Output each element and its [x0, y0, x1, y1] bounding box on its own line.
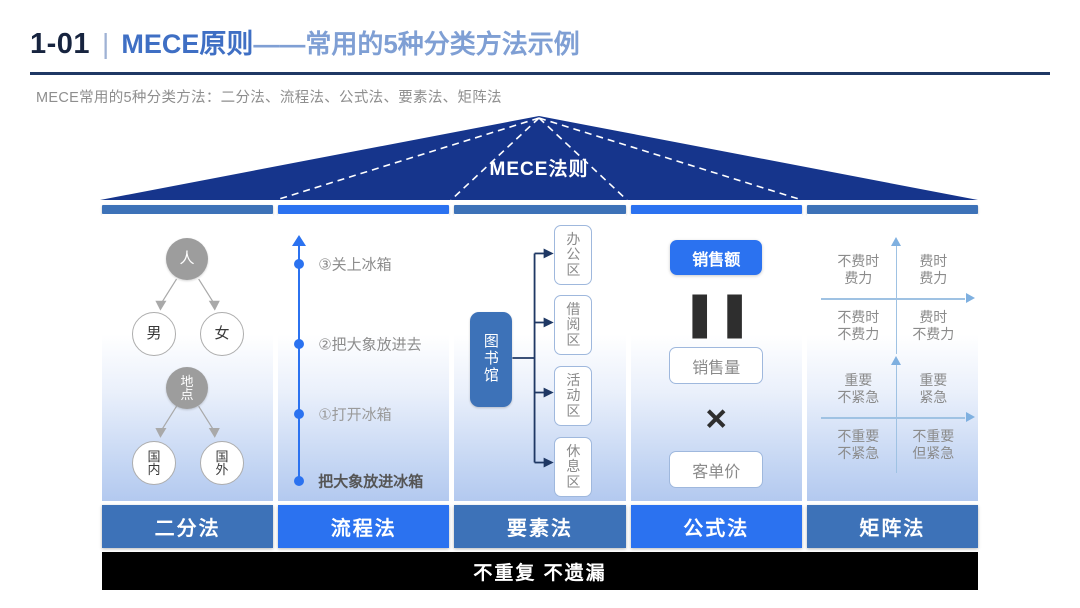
column-process[interactable]: ③关上冰箱 ②把大象放进去 ①打开冰箱 把大象放进冰箱 流程法: [278, 205, 449, 548]
formula-term-sales-volume: 销售量: [669, 347, 763, 384]
elements-leaf-1: 办公区: [554, 225, 592, 285]
column-accent-elements: [454, 205, 625, 214]
timeline-step-3: ①打开冰箱: [318, 404, 391, 425]
page-header: 1-01 | MECE原则 ——常用的5种分类方法示例 MECE常用的5种分类方…: [0, 0, 1080, 110]
matrix-effort-q-bottom-right-label: 费时不费力: [912, 309, 954, 343]
formula-operator-equals: ❚❚: [681, 292, 751, 336]
timeline-step-2: ②把大象放进去: [318, 334, 421, 355]
roof-shape: [100, 116, 978, 200]
column-body-elements: 图书馆 办公区 借阅区 活动区 休息区: [454, 214, 625, 501]
matrix-effort-q-top-left-label: 不费时费力: [837, 253, 879, 287]
binary-node-child-2-right-label: 国外: [215, 450, 228, 477]
process-timeline: ③关上冰箱 ②把大象放进去 ①打开冰箱 把大象放进冰箱: [278, 214, 449, 501]
binary-node-parent-2: 地点: [166, 367, 208, 409]
matrix-effort: 不费时费力 费时费力 不费时不费力 费时不费力: [821, 242, 971, 354]
matrix-priority-q-top-right-label: 重要紧急: [919, 372, 947, 406]
matrix-effort-q-top-right: 费时费力: [896, 242, 971, 298]
column-body-matrix: 不费时费力 费时费力 不费时不费力 费时不费力 重要不紧急 重要紧急 不重要不紧…: [807, 214, 978, 501]
binary-node-child-2-right: 国外: [200, 441, 244, 485]
column-elements[interactable]: 图书馆 办公区 借阅区 活动区 休息区 要素法: [454, 205, 625, 548]
binary-node-child-2-left-label: 国内: [147, 450, 160, 477]
matrix-priority-q-top-left-label: 重要不紧急: [837, 372, 879, 406]
matrix-priority-q-bottom-right-label: 不重要但紧急: [912, 428, 954, 462]
timeline-dot-3: [294, 409, 304, 419]
title-separator: |: [102, 28, 109, 60]
matrix-diagrams: 不费时费力 费时费力 不费时不费力 费时不费力 重要不紧急 重要紧急 不重要不紧…: [807, 214, 978, 501]
column-formula[interactable]: 销售额 ❚❚ 销售量 × 客单价 公式法: [631, 205, 802, 548]
column-label-elements[interactable]: 要素法: [454, 505, 625, 548]
formula-term-sales-amount: 销售额: [670, 240, 762, 275]
binary-tree-diagram: 人 男 女 地点 国内 国外: [102, 214, 273, 501]
elements-leaf-3: 活动区: [554, 366, 592, 426]
matrix-effort-q-bottom-right: 费时不费力: [896, 298, 971, 354]
matrix-priority-q-top-right: 重要紧急: [896, 361, 971, 417]
binary-node-parent-1: 人: [166, 238, 208, 280]
timeline-dot-2: [294, 339, 304, 349]
elements-leaf-4-label: 休息区: [566, 444, 580, 490]
elements-leaf-4: 休息区: [554, 437, 592, 497]
binary-node-parent-2-label: 地点: [180, 375, 193, 402]
timeline-step-4: 把大象放进冰箱: [318, 471, 423, 492]
title-divider: [30, 72, 1050, 75]
elements-leaf-2: 借阅区: [554, 295, 592, 355]
page-title: 1-01 | MECE原则 ——常用的5种分类方法示例: [30, 22, 580, 61]
method-columns: 人 男 女 地点 国内 国外 二分法 ③关上冰箱 ②把大象放进去 ①打开冰箱: [102, 205, 978, 548]
matrix-effort-q-top-right-label: 费时费力: [919, 253, 947, 287]
matrix-priority-q-bottom-left-label: 不重要不紧急: [837, 428, 879, 462]
formula-operator-multiply: ×: [705, 400, 727, 437]
roof-triangle: MECE法则: [100, 112, 978, 204]
elements-root-label: 图书馆: [484, 334, 499, 384]
timeline-dot-4: [294, 476, 304, 486]
roof-svg: [100, 112, 978, 204]
binary-node-child-1-left: 男: [132, 312, 176, 356]
timeline-axis: [298, 244, 300, 483]
footer-banner: 不重复 不遗漏: [102, 552, 978, 590]
column-label-matrix[interactable]: 矩阵法: [807, 505, 978, 548]
matrix-effort-q-top-left: 不费时费力: [821, 242, 896, 298]
elements-leaf-1-label: 办公区: [566, 232, 580, 278]
timeline-dot-1: [294, 259, 304, 269]
column-accent-formula: [631, 205, 802, 214]
column-body-process: ③关上冰箱 ②把大象放进去 ①打开冰箱 把大象放进冰箱: [278, 214, 449, 501]
column-matrix[interactable]: 不费时费力 费时费力 不费时不费力 费时不费力 重要不紧急 重要紧急 不重要不紧…: [807, 205, 978, 548]
matrix-priority-q-bottom-left: 不重要不紧急: [821, 417, 896, 473]
column-accent-binary: [102, 205, 273, 214]
column-accent-matrix: [807, 205, 978, 214]
matrix-priority-q-top-left: 重要不紧急: [821, 361, 896, 417]
column-accent-process: [278, 205, 449, 214]
page-subtitle: MECE常用的5种分类方法：二分法、流程法、公式法、要素法、矩阵法: [36, 86, 502, 107]
title-sub-text: ——常用的5种分类方法示例: [253, 24, 579, 61]
elements-root-box: 图书馆: [470, 312, 512, 407]
matrix-effort-q-bottom-left-label: 不费时不费力: [837, 309, 879, 343]
column-body-binary: 人 男 女 地点 国内 国外: [102, 214, 273, 501]
timeline-step-1: ③关上冰箱: [318, 254, 391, 275]
matrix-priority: 重要不紧急 重要紧急 不重要不紧急 不重要但紧急: [821, 361, 971, 473]
elements-leaf-2-label: 借阅区: [566, 302, 580, 348]
formula-term-unit-price: 客单价: [669, 451, 763, 488]
elements-leaf-3-label: 活动区: [566, 373, 580, 419]
column-label-formula[interactable]: 公式法: [631, 505, 802, 548]
column-body-formula: 销售额 ❚❚ 销售量 × 客单价: [631, 214, 802, 501]
binary-node-child-2-left: 国内: [132, 441, 176, 485]
matrix-effort-q-bottom-left: 不费时不费力: [821, 298, 896, 354]
column-label-process[interactable]: 流程法: [278, 505, 449, 548]
matrix-priority-q-bottom-right: 不重要但紧急: [896, 417, 971, 473]
title-main-text: MECE原则: [121, 22, 253, 61]
formula-diagram: 销售额 ❚❚ 销售量 × 客单价: [631, 214, 802, 501]
elements-diagram: 图书馆 办公区 借阅区 活动区 休息区: [454, 214, 625, 501]
binary-node-child-1-right: 女: [200, 312, 244, 356]
column-binary[interactable]: 人 男 女 地点 国内 国外 二分法: [102, 205, 273, 548]
column-label-binary[interactable]: 二分法: [102, 505, 273, 548]
title-number: 1-01: [30, 28, 90, 61]
